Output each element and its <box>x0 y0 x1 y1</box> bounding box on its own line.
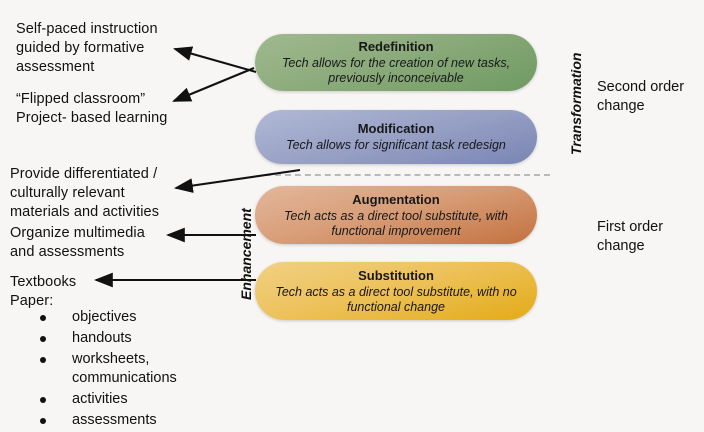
note-textbooks: Textbooks <box>10 273 120 292</box>
bar-description: Tech acts as a direct tool substitute, w… <box>263 285 528 315</box>
note-self-paced-instruction: Self-paced instruction guided by formati… <box>16 20 216 77</box>
note-second-order-change: Second order change <box>597 78 697 116</box>
bullet-dot-icon <box>40 315 46 321</box>
note-organize-multimedia: Organize multimedia and assessments <box>10 224 190 262</box>
group-label-transformation: Transformation <box>568 53 584 155</box>
note-flipped-classroom: “Flipped classroom” Project- based learn… <box>16 90 231 128</box>
transformation-enhancement-divider <box>265 174 550 176</box>
paper-items-list: objectives handouts worksheets, communic… <box>10 308 177 432</box>
bar-title: Modification <box>358 121 435 137</box>
list-item: worksheets, communications <box>10 350 177 388</box>
list-item-label: handouts <box>72 330 132 346</box>
bullet-dot-icon <box>40 357 46 363</box>
list-item-label: activities <box>72 391 128 407</box>
bar-title: Augmentation <box>352 192 439 208</box>
note-first-order-change: First order change <box>597 218 697 256</box>
list-item: handouts <box>10 329 177 348</box>
bar-title: Redefinition <box>358 39 433 55</box>
bar-description: Tech allows for the creation of new task… <box>270 56 522 86</box>
note-provide-differentiated: Provide differentiated / culturally rele… <box>10 165 215 222</box>
bullet-dot-icon <box>40 418 46 424</box>
samr-diagram: Self-paced instruction guided by formati… <box>0 0 704 425</box>
bar-description: Tech acts as a direct tool substitute, w… <box>272 209 520 239</box>
bar-title: Substitution <box>358 268 434 284</box>
samr-bar-redefinition: Redefinition Tech allows for the creatio… <box>255 34 537 91</box>
list-item: objectives <box>10 308 177 327</box>
list-item-label: worksheets, communications <box>72 350 177 388</box>
bar-description: Tech allows for significant task redesig… <box>274 138 518 153</box>
samr-bar-modification: Modification Tech allows for significant… <box>255 110 537 164</box>
list-item-label: assessments <box>72 412 157 428</box>
list-item: activities <box>10 390 177 409</box>
bullet-dot-icon <box>40 336 46 342</box>
bullet-dot-icon <box>40 397 46 403</box>
group-label-enhancement: Enhancement <box>238 208 254 300</box>
list-item: assessments <box>10 411 177 430</box>
samr-bar-substitution: Substitution Tech acts as a direct tool … <box>255 262 537 320</box>
list-item-label: objectives <box>72 309 136 325</box>
samr-bar-augmentation: Augmentation Tech acts as a direct tool … <box>255 186 537 244</box>
